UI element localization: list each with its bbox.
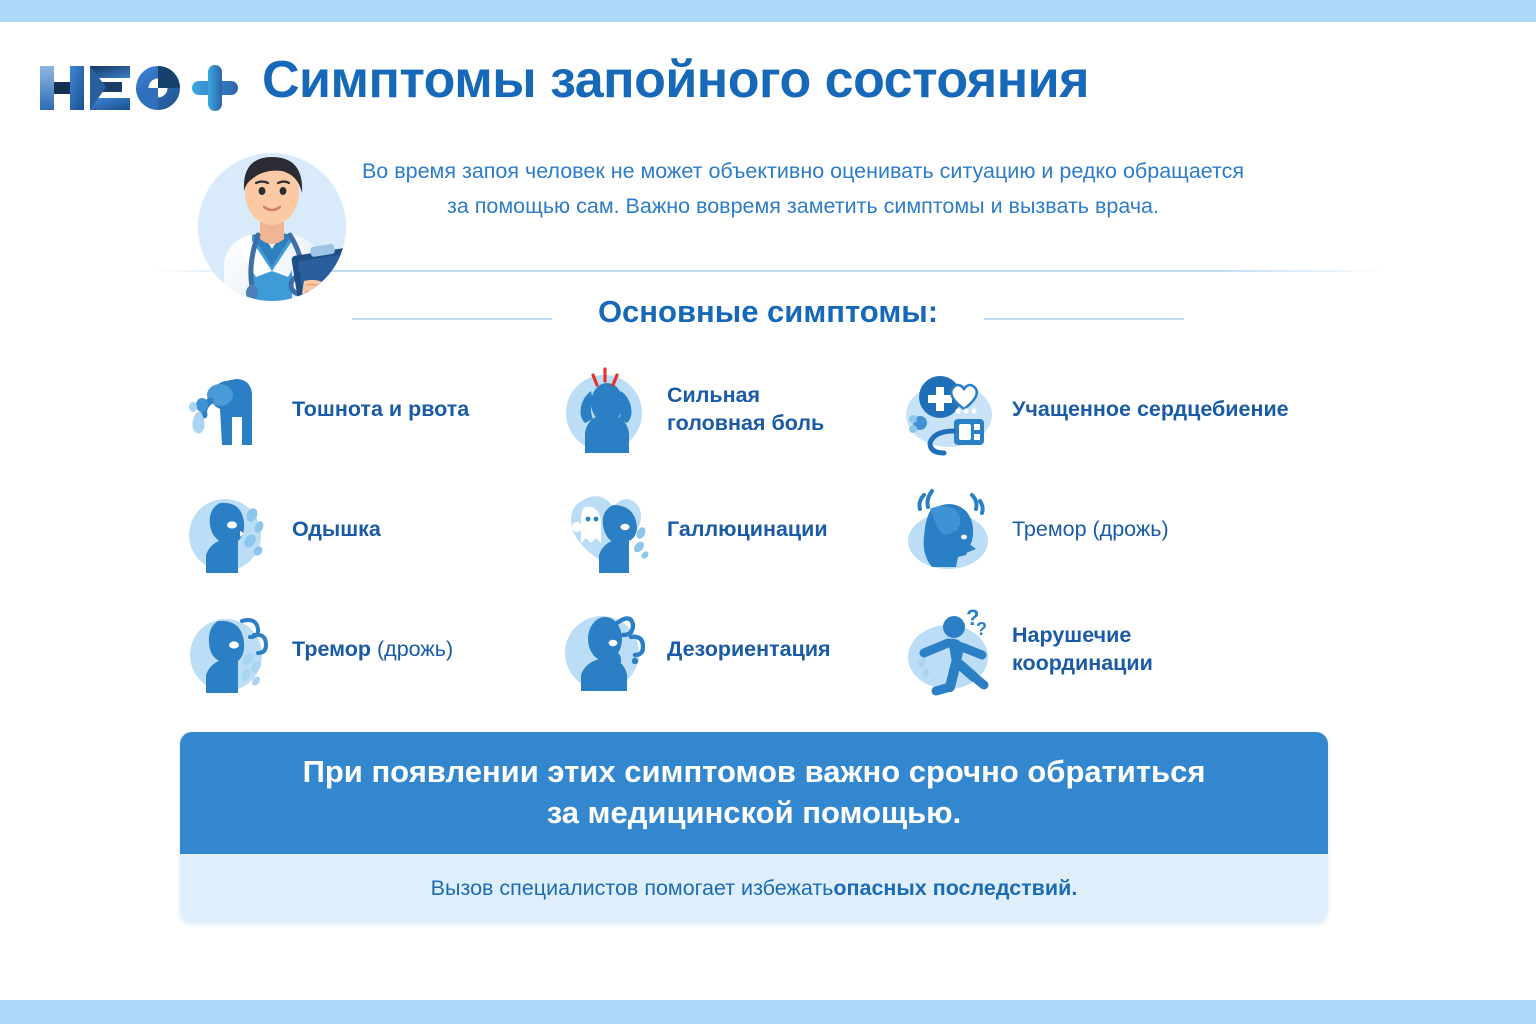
banner-footer-note: Вызов специалистов помогает избежать опа… (180, 854, 1328, 922)
coordination-walking-icon: ? ? (900, 601, 998, 699)
section-rule-right (984, 318, 1184, 320)
symptom-item-coordination: ? ? Нарушечие координации (900, 601, 1340, 699)
banner-line-1: При появлении этих симптомов важно срочн… (303, 752, 1206, 793)
symptom-label: Учащенное сердцебиение (1012, 396, 1289, 424)
banner-line-2: за медицинской помощью. (547, 793, 962, 834)
shortness-of-breath-icon (180, 481, 278, 579)
banner-footer-prefix: Вызов специалистов помогает избежать (431, 876, 834, 901)
symptom-label-line1: Нарушечие (1012, 623, 1131, 647)
tremor-head-shake-icon (900, 481, 998, 579)
banner-primary-message: При появлении этих симптомов важно срочн… (180, 732, 1328, 854)
tremor-sweating-icon (180, 601, 278, 699)
section-header: Основные симптомы: (0, 294, 1536, 346)
section-heading: Основные симптомы: (0, 294, 1536, 330)
symptom-label-line2: головная боль (667, 411, 824, 435)
intro-line-1: Во время запоя человек не может объектив… (362, 159, 1244, 183)
symptom-label: Сильная головная боль (667, 382, 824, 437)
infographic-stage: Симптомы запойного состояния (0, 22, 1536, 1000)
heart-monitor-icon (900, 361, 998, 459)
symptom-item-headache: Сильная головная боль (555, 361, 900, 459)
symptom-item-tremor-head: Тремор (дрожь) (900, 481, 1340, 579)
header: Симптомы запойного состояния (0, 32, 1536, 142)
intro-paragraph: Во время запоя человек не может объектив… (318, 154, 1288, 224)
disorientation-thinking-icon (555, 601, 653, 699)
banner-footer-highlight: опасных последствий. (833, 876, 1077, 901)
symptom-label-line1: Сильная (667, 383, 760, 407)
symptom-item-disorientation: Дезориентация (555, 601, 900, 699)
symptom-label-text: Тремор (дрожь) (1012, 517, 1169, 541)
symptom-label-note: (дрожь) (377, 637, 453, 661)
brand-logo-neo-plus (34, 56, 244, 120)
page-title: Симптомы запойного состояния (262, 50, 1089, 110)
symptom-label: Тремор (дрожь) (292, 636, 453, 664)
symptom-label: Нарушечие координации (1012, 622, 1153, 677)
symptom-item-tremor-sweating: Тремор (дрожь) (180, 601, 555, 699)
vomiting-person-icon (180, 361, 278, 459)
call-to-action-banner: При появлении этих симптомов важно срочн… (180, 732, 1328, 922)
symptom-grid: Тошнота и рвота Сильн (180, 350, 1340, 710)
top-decorative-band (0, 0, 1536, 22)
intro-line-2: за помощью сам. Важно вовремя заметить с… (318, 189, 1288, 224)
symptom-label: Тошнота и рвота (292, 396, 469, 424)
symptom-label: Дезориентация (667, 636, 831, 664)
symptom-label: Тремор (дрожь) (1012, 516, 1169, 544)
symptom-item-dyspnea: Одышка (180, 481, 555, 579)
symptom-label: Галлюцинации (667, 516, 828, 544)
headache-person-icon (555, 361, 653, 459)
symptom-item-tachycardia: Учащенное сердцебиение (900, 361, 1340, 459)
symptom-label-line2: координации (1012, 651, 1153, 675)
bottom-decorative-band (0, 1000, 1536, 1024)
symptom-label-text: Тремор (292, 637, 371, 661)
symptom-item-hallucinations: Галлюцинации (555, 481, 900, 579)
hallucination-ghost-icon (555, 481, 653, 579)
svg-text:?: ? (976, 619, 987, 639)
symptom-label: Одышка (292, 516, 381, 544)
symptom-item-nausea: Тошнота и рвота (180, 361, 555, 459)
